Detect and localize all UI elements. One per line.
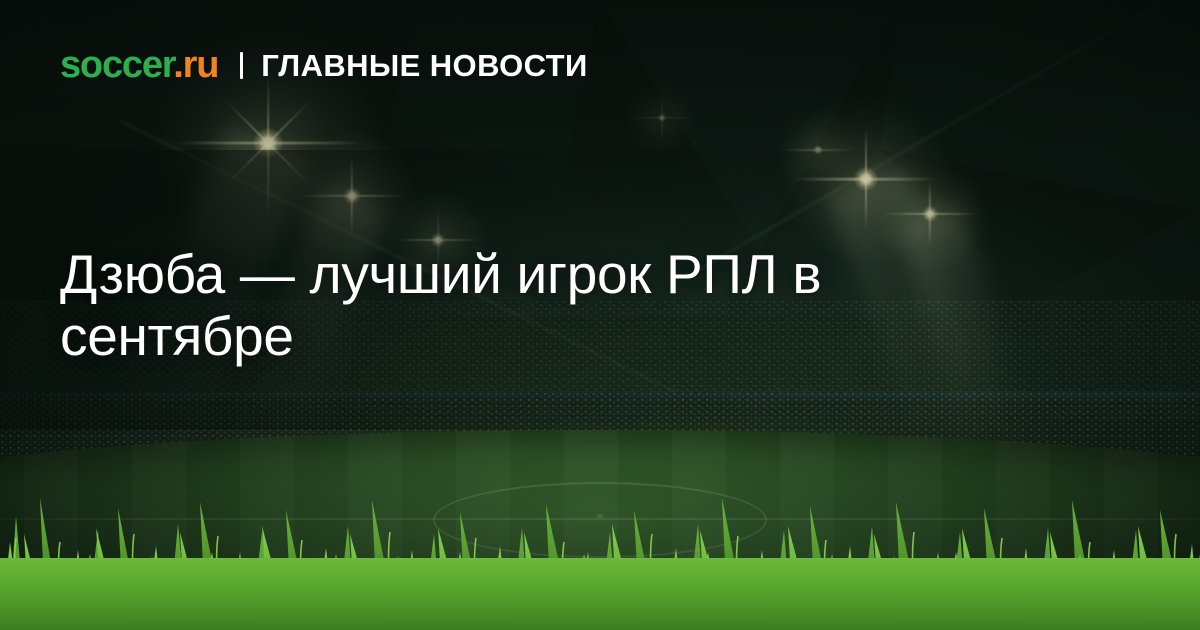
share-card: soccer.ru ГЛАВНЫЕ НОВОСТИ Дзюба — лучший…: [0, 0, 1200, 630]
page-title: Дзюба — лучший игрок РПЛ в сентябре: [60, 244, 940, 367]
site-logo[interactable]: soccer.ru: [60, 46, 218, 84]
header-divider: [240, 52, 243, 79]
section-label: ГЛАВНЫЕ НОВОСТИ: [261, 50, 587, 81]
site-logo-name: soccer: [60, 44, 173, 86]
site-logo-tld: .ru: [173, 44, 218, 86]
card-content: soccer.ru ГЛАВНЫЕ НОВОСТИ Дзюба — лучший…: [0, 0, 1200, 630]
card-header: soccer.ru ГЛАВНЫЕ НОВОСТИ: [60, 46, 588, 84]
